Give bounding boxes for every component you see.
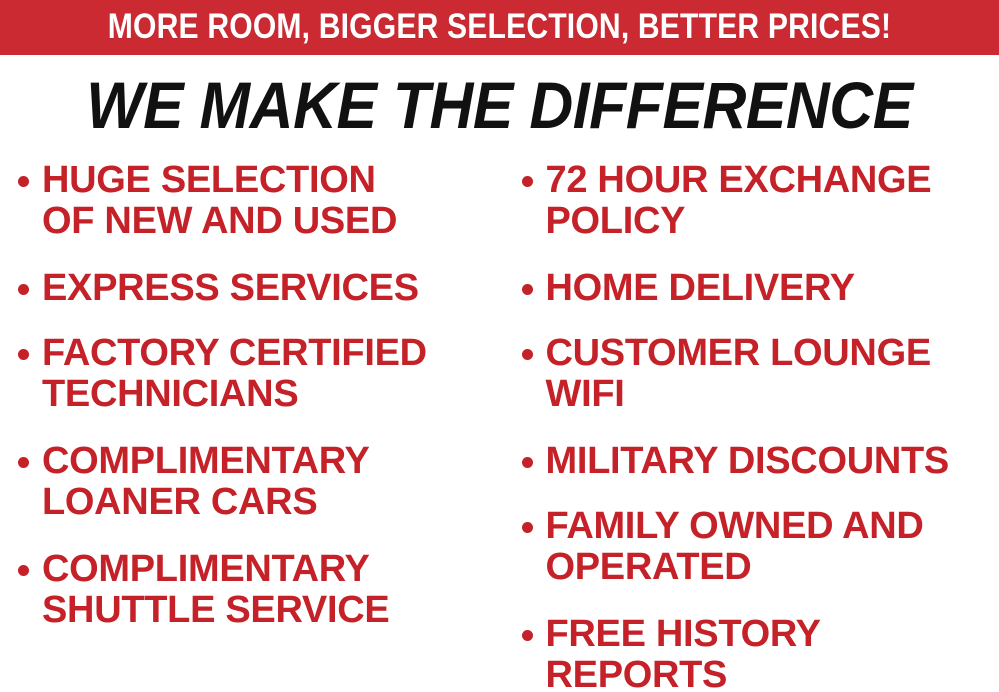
promotional-poster: MORE ROOM, BIGGER SELECTION, BETTER PRIC… bbox=[0, 0, 999, 692]
bullet-dot-icon bbox=[18, 284, 29, 295]
list-item: COMPLIMENTARY LOANER CARS bbox=[18, 441, 494, 523]
feature-label: EXPRESS SERVICES bbox=[42, 268, 494, 309]
feature-label: FREE HISTORY REPORTS bbox=[546, 614, 998, 692]
list-item: CUSTOMER LOUNGE WIFI bbox=[522, 333, 998, 415]
feature-label: COMPLIMENTARY SHUTTLE SERVICE bbox=[42, 549, 494, 631]
feature-label: CUSTOMER LOUNGE WIFI bbox=[546, 333, 998, 415]
feature-label: MILITARY DISCOUNTS bbox=[546, 441, 998, 482]
list-item: 72 HOUR EXCHANGE POLICY bbox=[522, 160, 998, 242]
bullet-dot-icon bbox=[522, 349, 533, 360]
top-promo-banner: MORE ROOM, BIGGER SELECTION, BETTER PRIC… bbox=[0, 0, 999, 55]
bullet-dot-icon bbox=[522, 457, 533, 468]
feature-label: HOME DELIVERY bbox=[546, 268, 998, 309]
bullet-dot-icon bbox=[522, 630, 533, 641]
bullet-dot-icon bbox=[522, 176, 533, 187]
bullet-dot-icon bbox=[18, 176, 29, 187]
list-item: FACTORY CERTIFIED TECHNICIANS bbox=[18, 333, 494, 415]
list-item: MILITARY DISCOUNTS bbox=[522, 441, 998, 482]
bullet-dot-icon bbox=[522, 522, 533, 533]
bullet-dot-icon bbox=[18, 349, 29, 360]
banner-headline-text: MORE ROOM, BIGGER SELECTION, BETTER PRIC… bbox=[70, 7, 929, 47]
feature-columns: HUGE SELECTION OF NEW AND USED EXPRESS S… bbox=[0, 160, 999, 692]
list-item: HOME DELIVERY bbox=[522, 268, 998, 309]
feature-label: HUGE SELECTION OF NEW AND USED bbox=[42, 160, 494, 242]
bullet-dot-icon bbox=[522, 284, 533, 295]
feature-label: FAMILY OWNED AND OPERATED bbox=[546, 506, 998, 588]
list-item: FAMILY OWNED AND OPERATED bbox=[522, 506, 998, 588]
list-item: HUGE SELECTION OF NEW AND USED bbox=[18, 160, 494, 242]
feature-label: COMPLIMENTARY LOANER CARS bbox=[42, 441, 494, 523]
list-item: EXPRESS SERVICES bbox=[18, 268, 494, 309]
bullet-dot-icon bbox=[18, 565, 29, 576]
feature-label: FACTORY CERTIFIED TECHNICIANS bbox=[42, 333, 494, 415]
bullet-dot-icon bbox=[18, 457, 29, 468]
feature-label: 72 HOUR EXCHANGE POLICY bbox=[546, 160, 998, 242]
feature-column-left: HUGE SELECTION OF NEW AND USED EXPRESS S… bbox=[0, 160, 500, 657]
list-item: COMPLIMENTARY SHUTTLE SERVICE bbox=[18, 549, 494, 631]
feature-column-right: 72 HOUR EXCHANGE POLICY HOME DELIVERY CU… bbox=[500, 160, 999, 692]
page-title: WE MAKE THE DIFFERENCE bbox=[40, 70, 959, 140]
list-item: FREE HISTORY REPORTS bbox=[522, 614, 998, 692]
